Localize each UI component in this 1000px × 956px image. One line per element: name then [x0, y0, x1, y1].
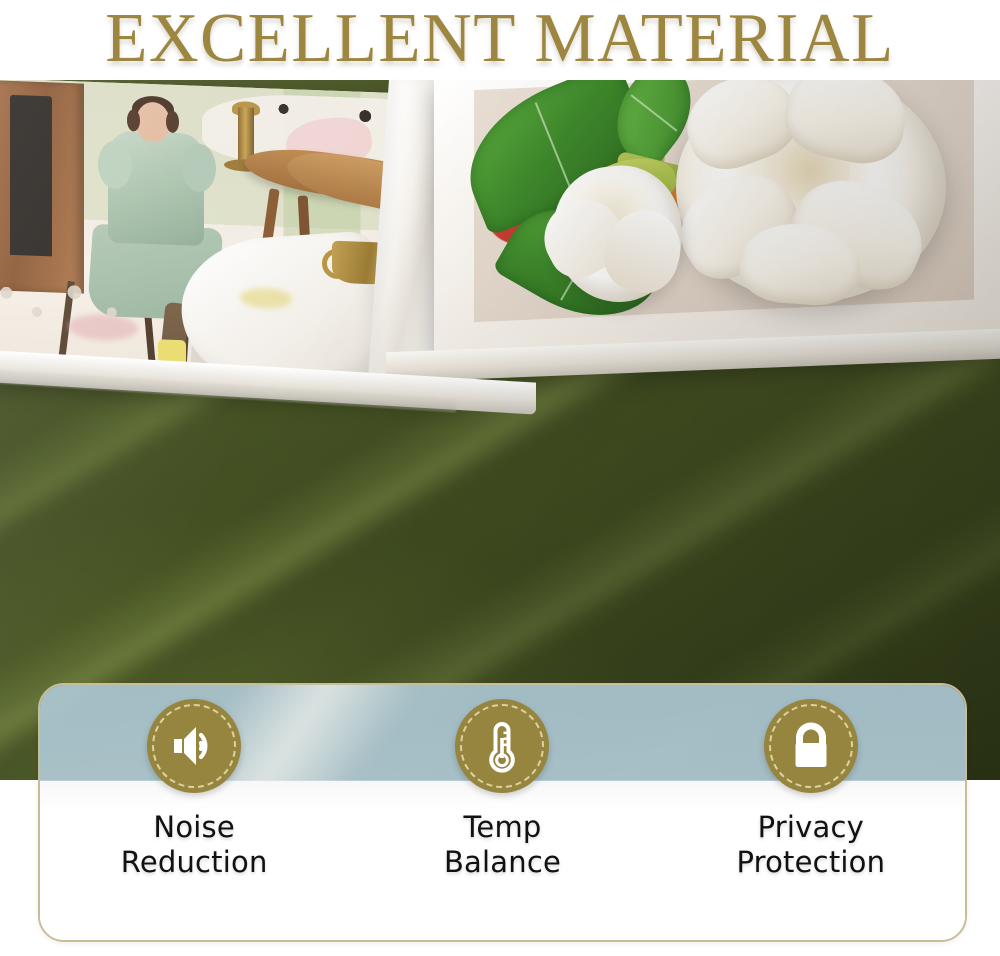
seated-woman-head	[136, 102, 170, 143]
seated-woman-hair-left	[127, 109, 140, 131]
rose-arrangement	[456, 80, 986, 384]
noise-reduction-badge	[147, 699, 241, 793]
wooden-cabinet	[0, 80, 84, 294]
product-photo	[0, 80, 1000, 780]
temp-balance-badge	[455, 699, 549, 793]
privacy-protection-badge	[764, 699, 858, 793]
feature-temp-balance[interactable]: Temp Balance	[357, 699, 647, 880]
feature-list: Noise Reduction	[40, 685, 965, 940]
feature-panel: Noise Reduction	[38, 683, 967, 942]
header-band: EXCELLENT MATERIAL	[0, 0, 1000, 88]
feature-label-noise-reduction: Noise Reduction	[121, 810, 268, 880]
lace-doily	[0, 268, 156, 334]
speaker-sound-icon	[166, 718, 222, 774]
seated-woman-sleeve-right	[182, 143, 216, 192]
thermometer-icon	[474, 718, 530, 774]
feature-noise-reduction[interactable]: Noise Reduction	[49, 699, 339, 880]
seated-woman-hair-right	[166, 111, 179, 133]
open-magazine	[0, 80, 1000, 408]
feature-privacy-protection[interactable]: Privacy Protection	[666, 699, 956, 880]
feature-label-privacy-protection: Privacy Protection	[736, 810, 885, 880]
cabinet-dark-panel	[10, 95, 52, 257]
page-title: EXCELLENT MATERIAL	[8, 0, 993, 80]
padlock-icon	[783, 718, 839, 774]
product-feature-graphic: EXCELLENT MATERIAL	[0, 0, 1000, 956]
feature-label-temp-balance: Temp Balance	[444, 810, 561, 880]
seated-woman-sleeve-left	[98, 140, 132, 189]
